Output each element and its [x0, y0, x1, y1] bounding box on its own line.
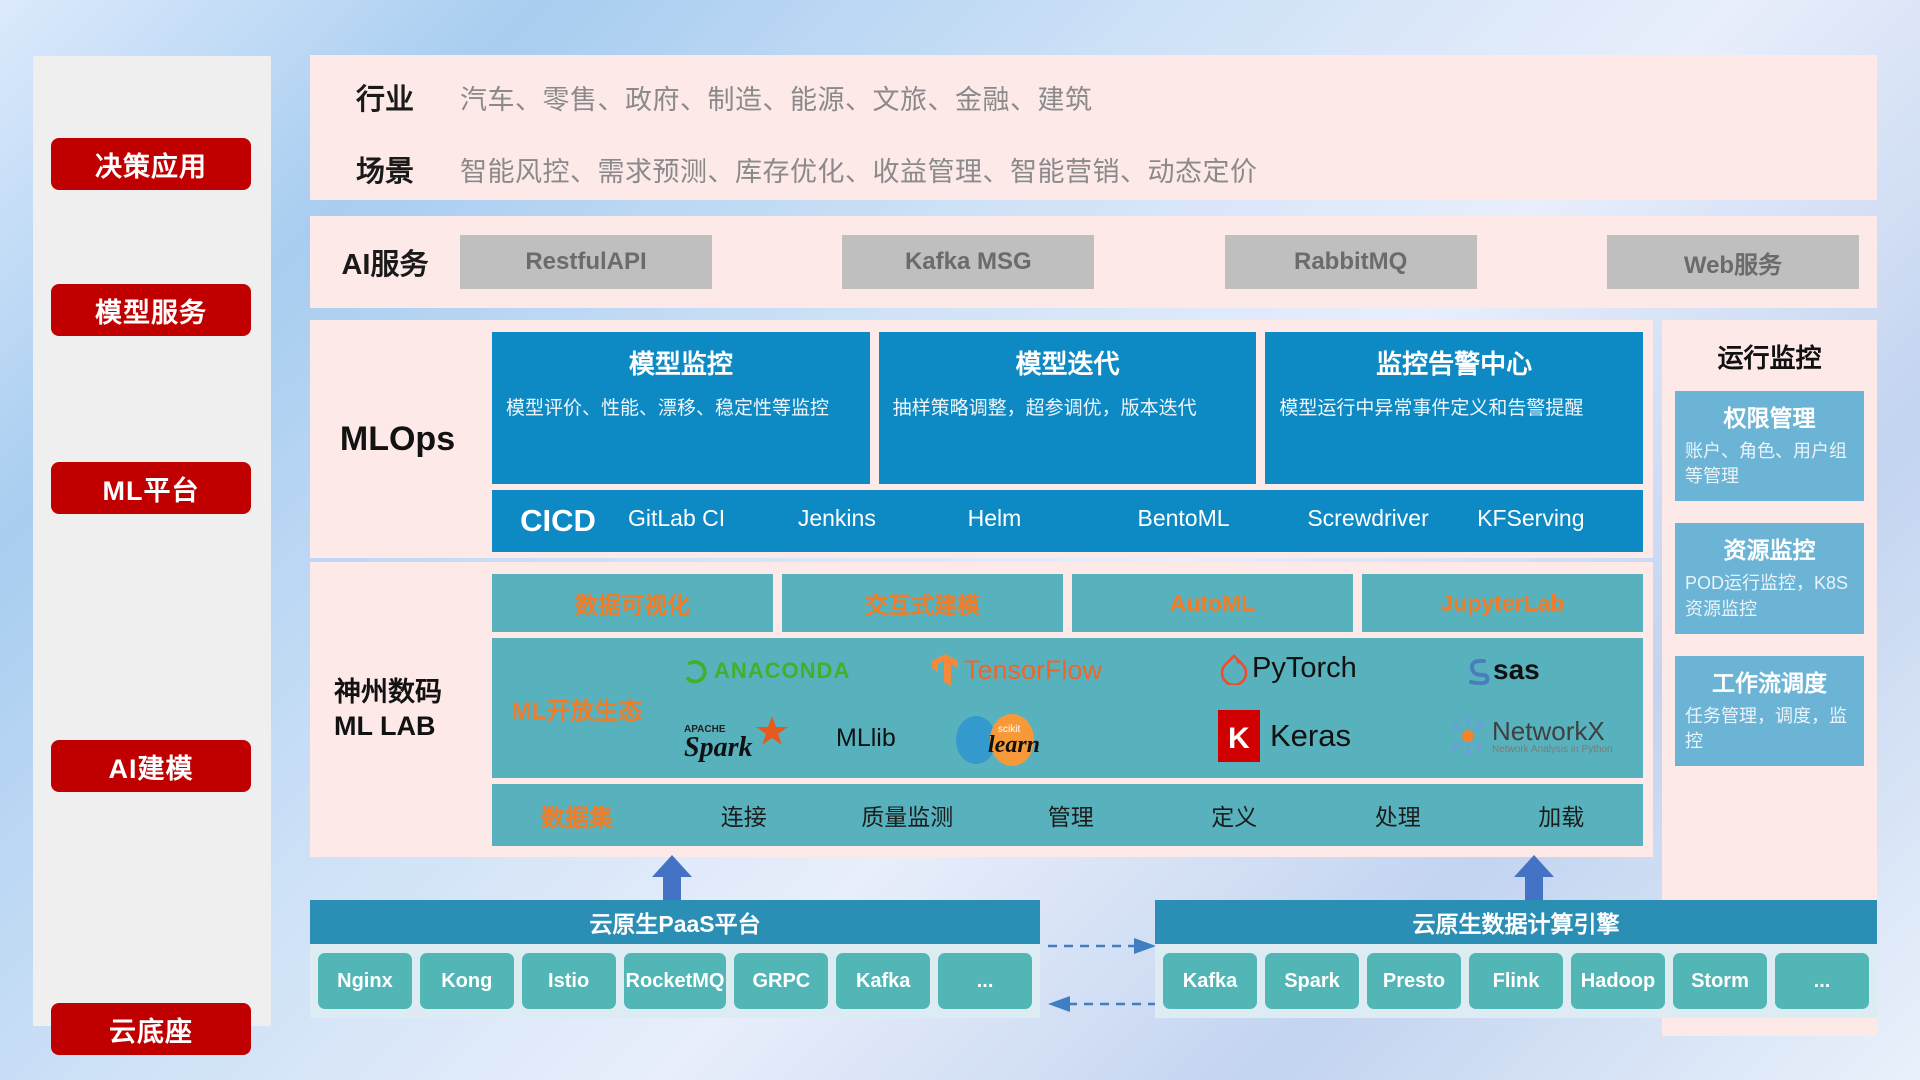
card-title: 模型监控	[506, 344, 856, 381]
tensorflow-label: TensorFlow	[964, 655, 1102, 686]
dataset-item-define[interactable]: 定义	[1153, 798, 1317, 832]
chip-grpc[interactable]: GRPC	[734, 953, 828, 1009]
chip-hadoop[interactable]: Hadoop	[1571, 953, 1665, 1009]
card-title: 模型迭代	[893, 344, 1243, 381]
mlops-card-alert-center[interactable]: 监控告警中心 模型运行中异常事件定义和告警提醒	[1265, 332, 1643, 484]
dataset-label: 数据集	[492, 798, 662, 833]
service-kafka-msg[interactable]: Kafka MSG	[842, 235, 1094, 289]
card-title: 监控告警中心	[1279, 344, 1629, 381]
chip-storm[interactable]: Storm	[1673, 953, 1767, 1009]
ml-lab-label: 神州数码 ML LAB	[320, 562, 495, 857]
networkx-icon	[1448, 716, 1488, 756]
scenario-row: 场景 智能风控、需求预测、库存优化、收益管理、智能营销、动态定价	[310, 133, 1877, 205]
mlops-card-model-monitor[interactable]: 模型监控 模型评价、性能、漂移、稳定性等监控	[492, 332, 870, 484]
layer-rail: 决策应用 模型服务 ML平台 AI建模 云底座	[33, 56, 271, 1026]
cicd-item-kfserving[interactable]: KFServing	[1473, 507, 1643, 535]
cloud-paas-panel: 云原生PaaS平台 Nginx Kong Istio RocketMQ GRPC…	[310, 900, 1040, 1018]
scikit-learn-icon: scikit learn	[950, 710, 1090, 768]
chip-kafka[interactable]: Kafka	[836, 953, 930, 1009]
chip-nginx[interactable]: Nginx	[318, 953, 412, 1009]
up-arrow-left-icon	[650, 855, 694, 905]
service-web[interactable]: Web服务	[1607, 235, 1859, 289]
sas-label: sas	[1493, 654, 1540, 686]
rail-chip-model-svc[interactable]: 模型服务	[51, 284, 251, 336]
sas-logo: sas	[1462, 654, 1540, 686]
mlops-card-list: 模型监控 模型评价、性能、漂移、稳定性等监控 模型迭代 抽样策略调整，超参调优，…	[492, 332, 1643, 484]
cicd-item-screwdriver[interactable]: Screwdriver	[1303, 507, 1473, 535]
cloud-compute-panel: 云原生数据计算引擎 Kafka Spark Presto Flink Hadoo…	[1155, 900, 1877, 1018]
scikit-learn-logo: scikit learn	[950, 710, 1090, 768]
dashed-arrow-left-icon	[1046, 993, 1158, 1015]
cicd-item-gitlab-ci[interactable]: GitLab CI	[624, 507, 794, 535]
spark-icon: APACHE Spark	[684, 714, 830, 762]
service-rabbitmq[interactable]: RabbitMQ	[1225, 235, 1477, 289]
monitor-card-permission[interactable]: 权限管理 账户、角色、用户组等管理	[1675, 391, 1864, 501]
keras-icon: K	[1218, 710, 1262, 762]
dataset-item-manage[interactable]: 管理	[989, 798, 1153, 832]
ai-service-panel: AI服务 RestfulAPI Kafka MSG RabbitMQ Web服务	[310, 216, 1877, 308]
svg-text:learn: learn	[988, 732, 1040, 758]
dataset-item-quality[interactable]: 质量监测	[826, 798, 990, 832]
tool-jupyterlab[interactable]: JupyterLab	[1362, 574, 1643, 632]
monitor-card-workflow[interactable]: 工作流调度 任务管理，调度，监控	[1675, 656, 1864, 766]
dataset-item-process[interactable]: 处理	[1316, 798, 1480, 832]
tool-interactive-modeling[interactable]: 交互式建模	[782, 574, 1063, 632]
mlops-label: MLOps	[310, 320, 485, 558]
card-desc: 任务管理，调度，监控	[1685, 704, 1854, 754]
cloud-paas-chip-list: Nginx Kong Istio RocketMQ GRPC Kafka ...	[310, 944, 1040, 1018]
chip-kong[interactable]: Kong	[420, 953, 514, 1009]
chip-presto[interactable]: Presto	[1367, 953, 1461, 1009]
service-restful-api[interactable]: RestfulAPI	[460, 235, 712, 289]
industry-panel: 行业 汽车、零售、政府、制造、能源、文旅、金融、建筑 场景 智能风控、需求预测、…	[310, 55, 1877, 200]
cicd-title: CICD	[492, 503, 624, 539]
rail-chip-ml-platform[interactable]: ML平台	[51, 462, 251, 514]
chip-rocketmq[interactable]: RocketMQ	[624, 953, 727, 1009]
card-desc: 模型运行中异常事件定义和告警提醒	[1279, 395, 1629, 423]
ml-ecosystem-label: ML开放生态	[492, 691, 662, 726]
industry-row: 行业 汽车、零售、政府、制造、能源、文旅、金融、建筑	[310, 61, 1877, 133]
rail-chip-cloud-base[interactable]: 云底座	[51, 1003, 251, 1055]
industry-value: 汽车、零售、政府、制造、能源、文旅、金融、建筑	[460, 78, 1093, 117]
up-arrow-right-icon	[1512, 855, 1556, 905]
keras-logo: K Keras	[1218, 710, 1351, 762]
tensorflow-icon	[930, 652, 960, 688]
chip-flink[interactable]: Flink	[1469, 953, 1563, 1009]
modeling-panel: 神州数码 ML LAB 数据可视化 交互式建模 AutoML JupyterLa…	[310, 562, 1653, 857]
cicd-item-bentoml[interactable]: BentoML	[1133, 507, 1303, 535]
rail-chip-decision[interactable]: 决策应用	[51, 138, 251, 190]
anaconda-label: ANACONDA	[714, 658, 850, 684]
card-desc: 模型评价、性能、漂移、稳定性等监控	[506, 395, 856, 423]
tool-list: 数据可视化 交互式建模 AutoML JupyterLab	[492, 574, 1643, 632]
chip-istio[interactable]: Istio	[522, 953, 616, 1009]
mlops-panel: MLOps 模型监控 模型评价、性能、漂移、稳定性等监控 模型迭代 抽样策略调整…	[310, 320, 1653, 558]
chip-more[interactable]: ...	[938, 953, 1032, 1009]
cloud-compute-title: 云原生数据计算引擎	[1155, 900, 1877, 944]
networkx-label: NetworkX	[1492, 718, 1613, 744]
cicd-item-helm[interactable]: Helm	[964, 507, 1134, 535]
scenario-value: 智能风控、需求预测、库存优化、收益管理、智能营销、动态定价	[460, 150, 1258, 189]
scenario-key: 场景	[310, 148, 460, 190]
pytorch-logo: PyTorch	[1220, 652, 1357, 685]
keras-label: Keras	[1270, 718, 1351, 754]
dataset-item-connect[interactable]: 连接	[662, 798, 826, 832]
chip-kafka[interactable]: Kafka	[1163, 953, 1257, 1009]
anaconda-logo: ANACONDA	[680, 656, 850, 686]
ml-ecosystem-logo-grid: ANACONDA TensorFlow PyTorch	[662, 638, 1643, 778]
dataset-band: 数据集 连接 质量监测 管理 定义 处理 加载	[492, 784, 1643, 846]
anaconda-icon	[680, 656, 710, 686]
pytorch-icon	[1220, 653, 1248, 685]
svg-text:Spark: Spark	[684, 732, 752, 762]
industry-key: 行业	[310, 76, 460, 118]
dataset-item-load[interactable]: 加载	[1480, 798, 1644, 832]
cicd-item-list: GitLab CI Jenkins Helm BentoML Screwdriv…	[624, 507, 1643, 535]
ai-service-label: AI服务	[310, 241, 460, 283]
cloud-paas-title: 云原生PaaS平台	[310, 900, 1040, 944]
cloud-compute-chip-list: Kafka Spark Presto Flink Hadoop Storm ..…	[1155, 944, 1877, 1018]
mlops-card-model-iteration[interactable]: 模型迭代 抽样策略调整，超参调优，版本迭代	[879, 332, 1257, 484]
card-desc: POD运行监控，K8S资源监控	[1685, 571, 1854, 621]
card-desc: 抽样策略调整，超参调优，版本迭代	[893, 395, 1243, 423]
pytorch-label: PyTorch	[1252, 652, 1357, 685]
cicd-bar: CICD GitLab CI Jenkins Helm BentoML Scre…	[492, 490, 1643, 552]
ai-service-list: RestfulAPI Kafka MSG RabbitMQ Web服务	[460, 235, 1877, 289]
ml-ecosystem-band: ML开放生态 ANACONDA TensorFlow	[492, 638, 1643, 778]
monitoring-title: 运行监控	[1662, 320, 1877, 391]
cicd-item-jenkins[interactable]: Jenkins	[794, 507, 964, 535]
ml-lab-label-line1: 神州数码	[334, 676, 442, 710]
monitor-card-resource[interactable]: 资源监控 POD运行监控，K8S资源监控	[1675, 523, 1864, 633]
ml-lab-label-line2: ML LAB	[334, 710, 436, 744]
svg-text:K: K	[1228, 722, 1250, 755]
rail-chip-ai-modeling[interactable]: AI建模	[51, 740, 251, 792]
spark-mllib-logo: APACHE Spark MLlib	[684, 714, 896, 762]
tool-automl[interactable]: AutoML	[1072, 574, 1353, 632]
dashed-arrow-right-icon	[1046, 935, 1158, 957]
card-title: 权限管理	[1685, 399, 1854, 433]
card-desc: 账户、角色、用户组等管理	[1685, 439, 1854, 489]
chip-more[interactable]: ...	[1775, 953, 1869, 1009]
card-title: 资源监控	[1685, 531, 1854, 565]
sas-icon	[1462, 655, 1492, 685]
card-title: 工作流调度	[1685, 664, 1854, 698]
networkx-logo: NetworkX Network Analysis in Python	[1448, 716, 1613, 756]
chip-spark[interactable]: Spark	[1265, 953, 1359, 1009]
tool-data-visualization[interactable]: 数据可视化	[492, 574, 773, 632]
tensorflow-logo: TensorFlow	[930, 652, 1102, 688]
dataset-item-list: 连接 质量监测 管理 定义 处理 加载	[662, 798, 1643, 832]
